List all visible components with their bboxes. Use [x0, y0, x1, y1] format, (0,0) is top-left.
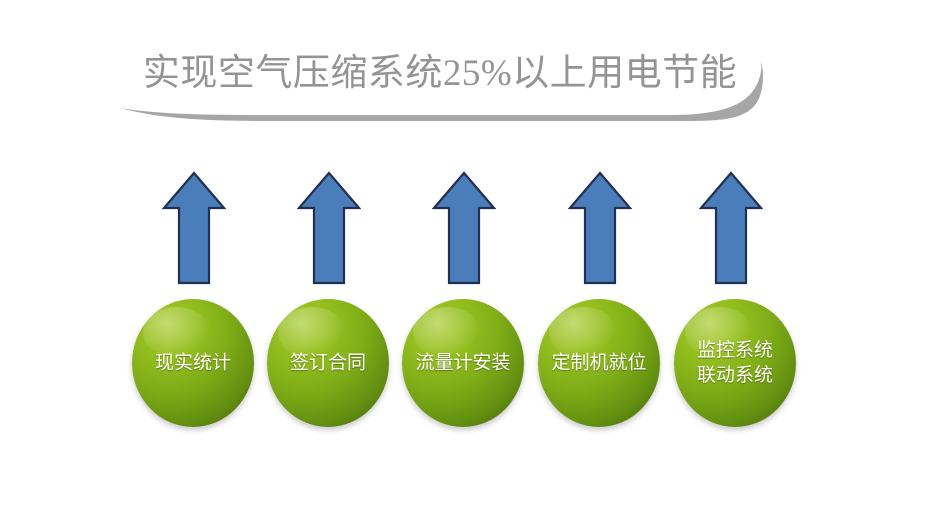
up-arrow-icon — [568, 171, 632, 285]
node-ellipse — [538, 299, 660, 427]
slide-canvas: 实现空气压缩系统25%以上用电节能 现实统计 签订合同 流量计安装 — [0, 0, 945, 529]
process-step-node[interactable]: 监控系统 联动系统 — [674, 299, 796, 427]
node-ellipse — [267, 299, 389, 427]
node-ellipse — [132, 299, 254, 427]
process-step-node[interactable]: 现实统计 — [132, 299, 254, 427]
up-arrow-icon — [297, 171, 361, 285]
up-arrow-icon — [162, 171, 226, 285]
node-ellipse — [674, 299, 796, 427]
up-arrow-icon — [432, 171, 496, 285]
node-ellipse — [402, 299, 524, 427]
process-step-node[interactable]: 流量计安装 — [402, 299, 524, 427]
process-step-node[interactable]: 签订合同 — [267, 299, 389, 427]
page-title: 实现空气压缩系统25%以上用电节能 — [140, 48, 740, 100]
process-step-node[interactable]: 定制机就位 — [538, 299, 660, 427]
up-arrow-icon — [699, 171, 763, 285]
